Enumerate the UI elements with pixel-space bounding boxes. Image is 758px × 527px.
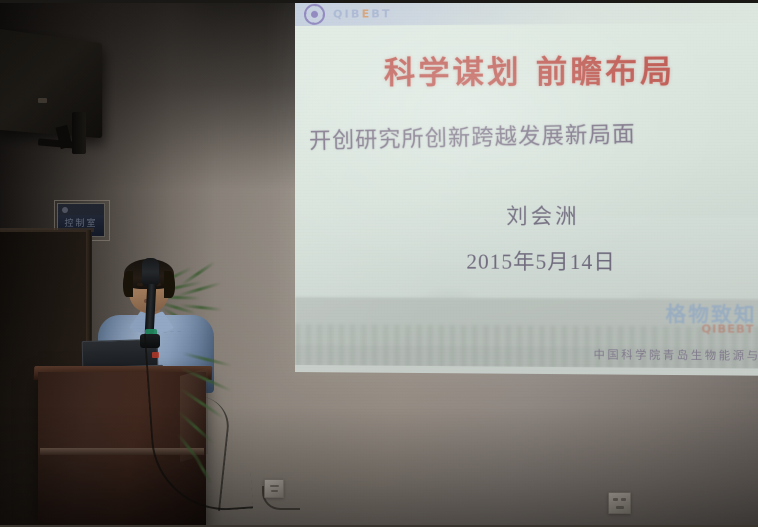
photo-edge-top <box>0 0 758 3</box>
door-top-trim <box>0 228 94 232</box>
slide-footer-institution: 中国科学院青岛生物能源与 <box>594 346 758 363</box>
slide-date: 2015年5月14日 <box>295 245 758 277</box>
slide-watermark-subtext: QIBEBT <box>701 322 754 336</box>
slide-title: 科学谋划 前瞻布局 <box>295 45 758 93</box>
slide-header-band: QIBEBT <box>295 0 758 26</box>
floor-shadow <box>0 407 758 527</box>
logo-text-highlight: E <box>362 7 372 20</box>
presenter-hair-right <box>164 271 175 298</box>
logo-text-after: BT <box>371 7 391 20</box>
projection-screen: QIBEBT 科学谋划 前瞻布局 开创研究所创新跨越发展新局面 刘会洲 2015… <box>295 0 758 376</box>
wall-sign-indicator-icon <box>62 207 68 213</box>
wall-speaker-badge <box>38 98 47 103</box>
wall-speaker-icon <box>0 28 102 138</box>
presentation-photo-scene: QIBEBT 科学谋划 前瞻布局 开创研究所创新跨越发展新局面 刘会洲 2015… <box>0 0 758 527</box>
wall-sign-header <box>58 204 104 215</box>
presenter-hair-left <box>123 271 133 297</box>
logo-text-before: QIB <box>333 7 362 20</box>
slide-logo-text: QIBEBT <box>333 7 392 20</box>
qibebt-gear-logo-icon <box>304 3 325 24</box>
wall-speaker-mount <box>72 112 86 154</box>
slide-presenter-name: 刘会洲 <box>295 200 758 231</box>
microphone-head-icon <box>142 258 159 286</box>
